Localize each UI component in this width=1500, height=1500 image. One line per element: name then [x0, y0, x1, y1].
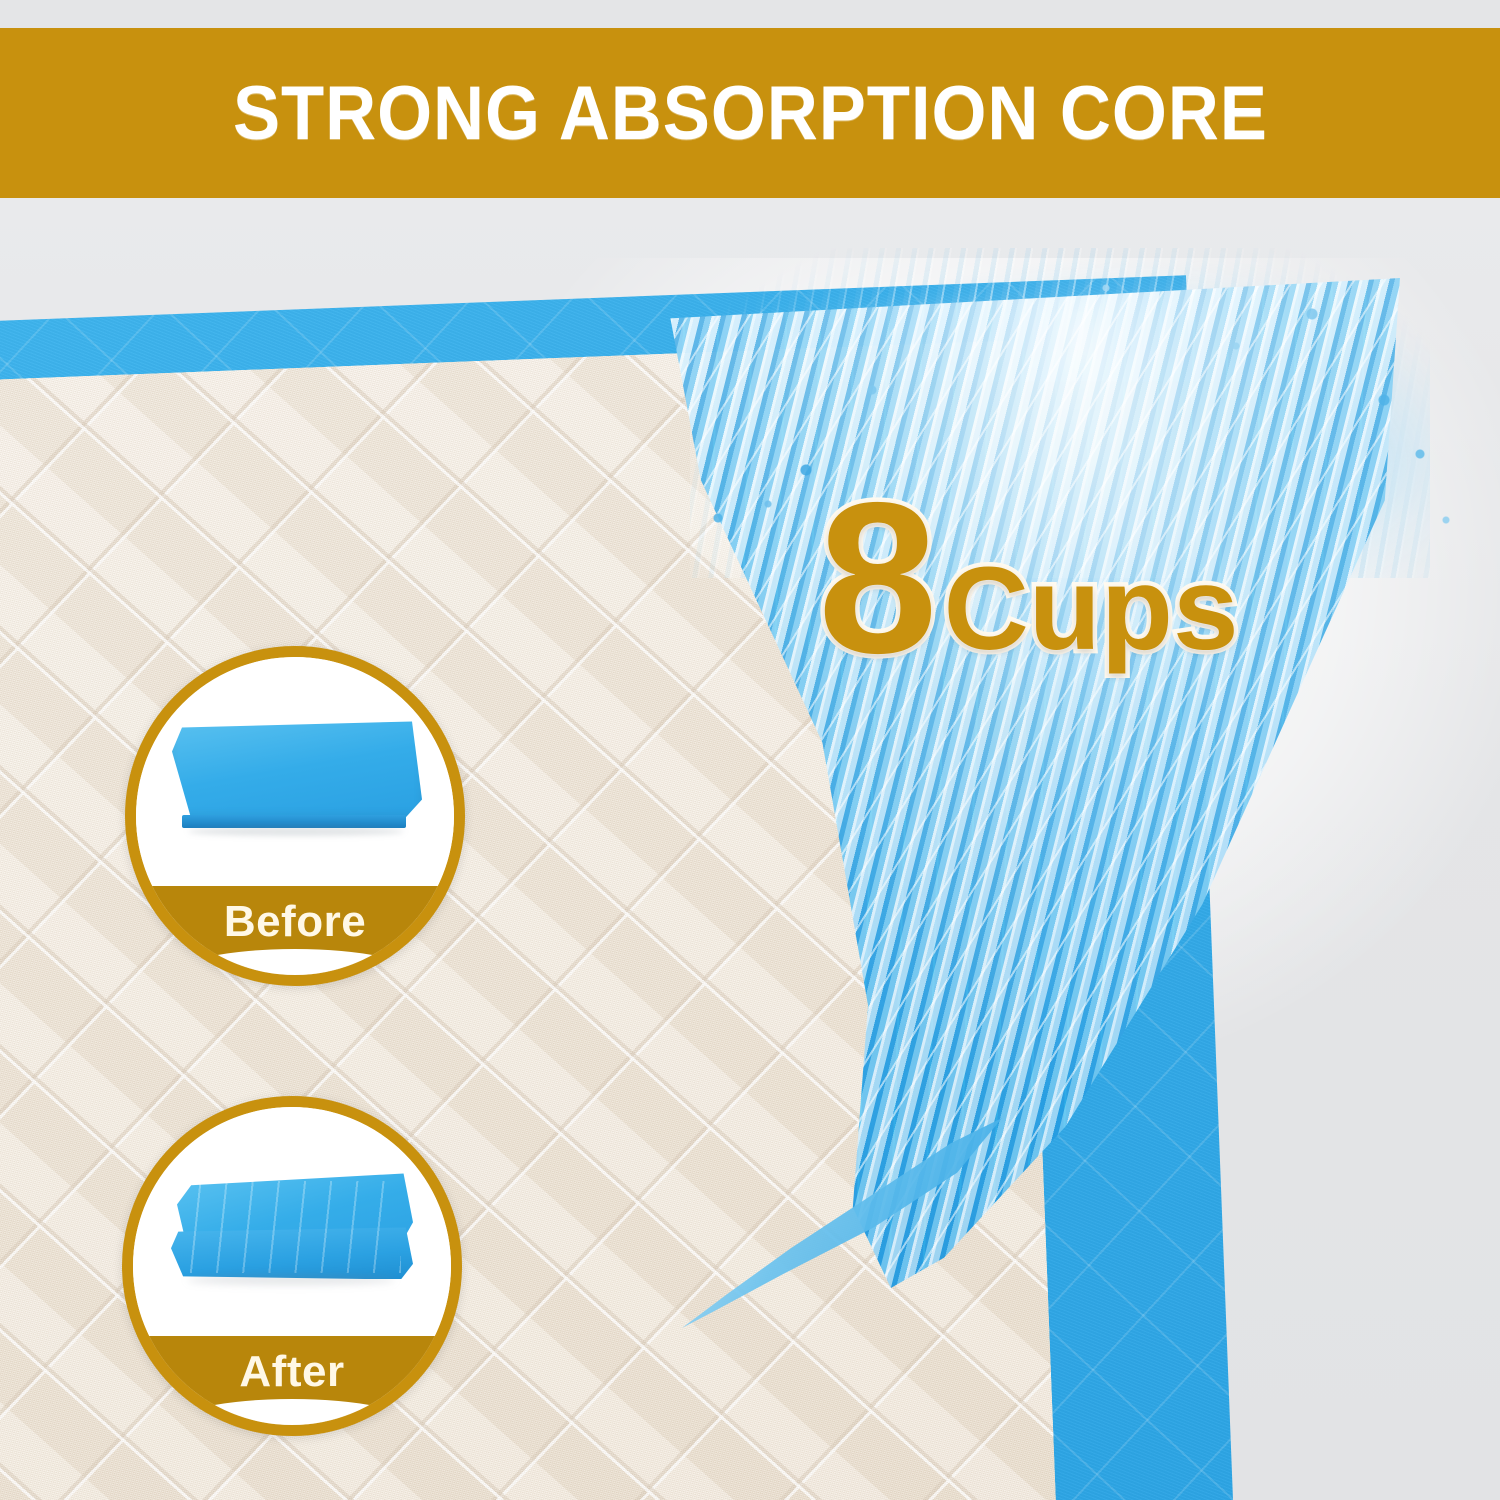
pad-flat-illustration [166, 721, 424, 839]
capacity-amount: 8 [818, 483, 938, 672]
header-banner: STRONG ABSORPTION CORE [0, 28, 1500, 198]
pad-shadow [188, 827, 404, 836]
badge-before-label: Before [224, 900, 366, 944]
badge-before-photo [136, 657, 454, 886]
capacity-unit: Cups [944, 558, 1239, 662]
badge-before[interactable]: Before [125, 646, 465, 986]
pad-creases [181, 1181, 401, 1273]
pad-shadow [187, 1275, 395, 1285]
badge-after[interactable]: After [122, 1096, 462, 1436]
product-feature-image: STRONG ABSORPTION CORE 8 Cups [0, 0, 1500, 1500]
badge-after-photo [133, 1107, 451, 1336]
top-margin-strip [0, 0, 1500, 28]
capacity-callout: 8 Cups [818, 483, 1239, 672]
pad-surface [172, 721, 422, 821]
pad-folded-illustration [167, 1169, 417, 1293]
page-title: STRONG ABSORPTION CORE [233, 70, 1268, 157]
scene-photo: 8 Cups Before [0, 198, 1500, 1500]
badge-after-label: After [239, 1350, 344, 1394]
